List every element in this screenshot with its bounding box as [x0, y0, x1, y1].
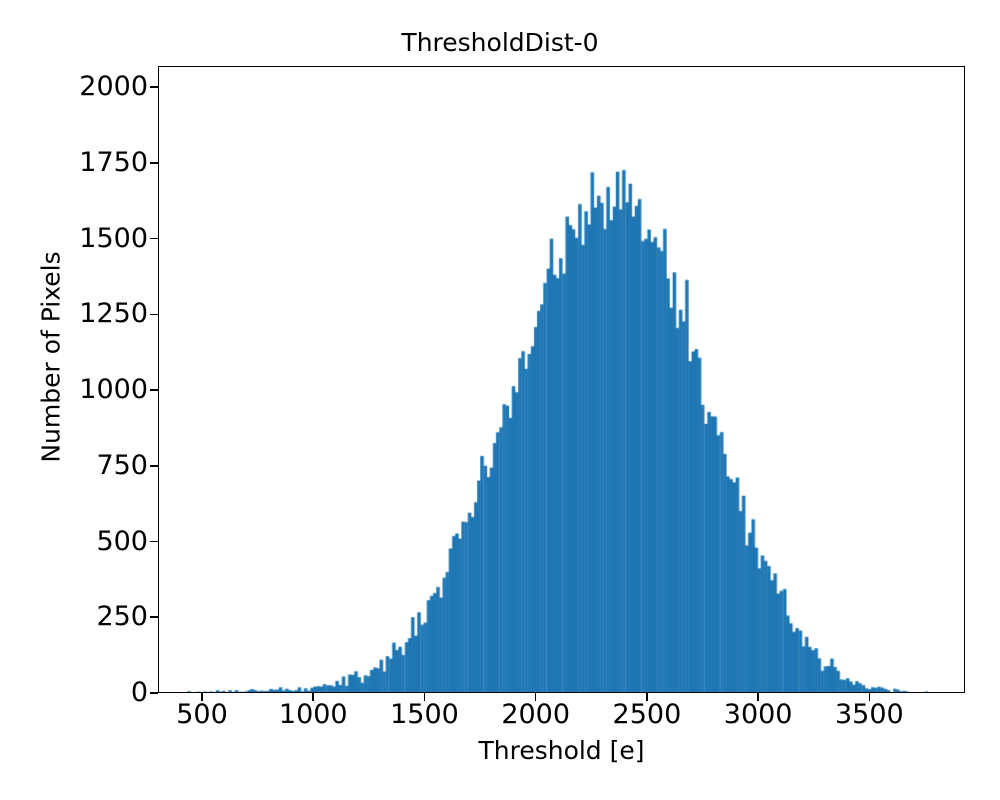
y-tick-mark: [150, 238, 158, 240]
y-tick-mark: [150, 86, 158, 88]
y-tick-label: 2000: [0, 73, 148, 101]
x-tick-mark: [312, 693, 314, 701]
x-tick-label: 1500: [390, 700, 459, 730]
x-tick-mark: [869, 693, 871, 701]
x-tick-label: 2000: [501, 700, 570, 730]
plot-axes: [158, 66, 965, 693]
y-tick-mark: [150, 692, 158, 694]
y-tick-mark: [150, 314, 158, 316]
y-tick-mark: [150, 389, 158, 391]
histogram-plot: [159, 67, 964, 692]
y-axis-label: Number of Pixels: [38, 44, 66, 671]
y-tick-label: 500: [0, 528, 148, 556]
x-tick-label: 1000: [279, 700, 348, 730]
x-tick-label: 3000: [724, 700, 793, 730]
x-tick-mark: [201, 693, 203, 701]
x-tick-label: 3500: [835, 700, 904, 730]
figure-canvas: ThresholdDist-0 025050075010001250150017…: [0, 0, 1000, 800]
y-tick-mark: [150, 541, 158, 543]
x-tick-mark: [424, 693, 426, 701]
x-tick-mark: [646, 693, 648, 701]
chart-title: ThresholdDist-0: [0, 28, 1000, 58]
y-tick-label: 750: [0, 452, 148, 480]
x-tick-mark: [535, 693, 537, 701]
x-tick-mark: [757, 693, 759, 701]
y-tick-label: 250: [0, 603, 148, 631]
y-tick-label: 0: [0, 679, 148, 707]
x-axis-label: Threshold [e]: [158, 737, 965, 765]
y-tick-label: 1000: [0, 376, 148, 404]
x-tick-label: 2500: [613, 700, 682, 730]
x-tick-label: 500: [176, 700, 228, 730]
y-tick-label: 1500: [0, 225, 148, 253]
y-tick-mark: [150, 162, 158, 164]
y-tick-mark: [150, 465, 158, 467]
y-tick-mark: [150, 616, 158, 618]
y-tick-label: 1250: [0, 300, 148, 328]
y-tick-label: 1750: [0, 149, 148, 177]
